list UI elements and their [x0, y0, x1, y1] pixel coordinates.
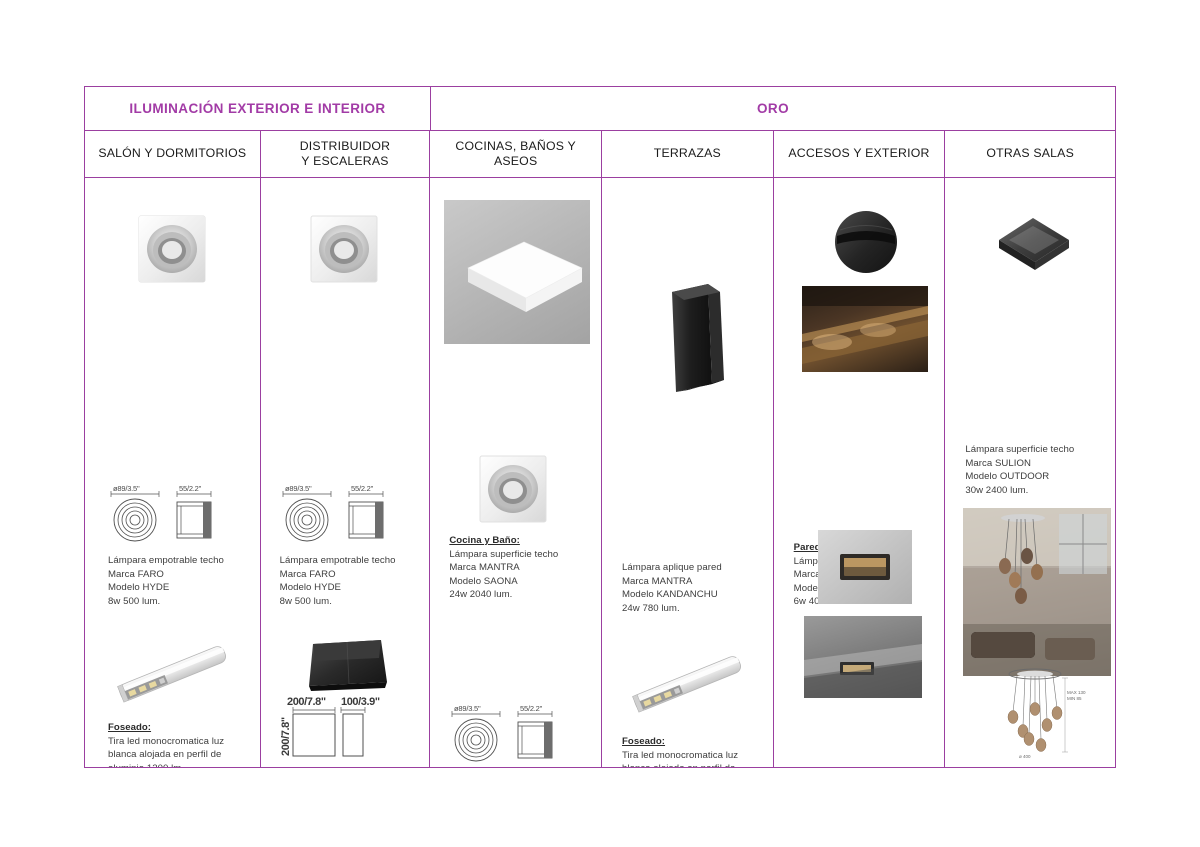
column-body-distribuidor-y-escaleras: ø89/3.5" 55/2.2": [261, 178, 431, 767]
header-label: DISTRIBUIDOR Y ESCALERAS: [300, 139, 391, 170]
entry-line: Marca FARO: [280, 568, 396, 582]
hyde-downlight-photo: [466, 450, 562, 539]
entry-text-foseado: Foseado: Tira led monocromatica luz blan…: [622, 735, 738, 767]
outdoor-surface-lamp-photo: [985, 206, 1081, 283]
entry-text-hyde-downlight: Lámpara empotrable techo Marca FARO Mode…: [280, 554, 396, 608]
page-canvas: ILUMINACIÓN EXTERIOR E INTERIOR ORO SALÓ…: [0, 0, 1200, 847]
hyde-downlight-photo: [297, 210, 393, 299]
entry-line: 24w 780 lum.: [622, 602, 722, 616]
svg-text:100/3.9": 100/3.9": [341, 696, 380, 708]
entry-line: Modelo KANDANCHU: [622, 588, 722, 602]
hyde-downlight-photo: [125, 210, 221, 299]
saona-surface-lamp-photo: [444, 200, 590, 344]
entry-text-outdoor: Lámpara superficie techo Marca SULION Mo…: [965, 443, 1074, 497]
svg-text:ø 400: ø 400: [1019, 754, 1031, 759]
entry-line: blanca alojada en perfil de: [622, 762, 738, 767]
svg-text:MIN 85: MIN 85: [1067, 696, 1082, 701]
column-body-terrazas: Lámpara aplique pared Marca MANTRA Model…: [602, 178, 774, 767]
entry-text-kandanchu: Lámpara aplique pared Marca MANTRA Model…: [622, 561, 722, 615]
header-label: COCINAS, BAÑOS Y ASEOS: [455, 139, 576, 170]
header-label: OTRAS SALAS: [986, 146, 1074, 161]
entry-line: Lámpara superficie techo: [965, 443, 1074, 457]
entry-text-hyde-aseo: Aseo: Lámpara empotrable techo Marca FAR…: [449, 766, 565, 767]
step-installation-photo: [804, 616, 922, 698]
entry-line: blanca alojada en perfil de: [108, 748, 224, 762]
entry-line: aluminio 1200 lm: [108, 762, 224, 767]
table-body-row: ø89/3.5" 55/2.2": [85, 178, 1115, 767]
column-header-cocinas-banos-y-aseos: COCINAS, BAÑOS Y ASEOS: [430, 131, 602, 177]
column-body-accesos-y-exterior: Pared: Lámpara aplique pared Marca MANTR…: [774, 178, 946, 767]
entry-line: Lámpara aplique pared: [622, 561, 722, 575]
header-line: DISTRIBUIDOR: [300, 139, 391, 153]
kandanchu-wall-lamp-photo: [650, 268, 742, 407]
stair-lighting-photo: [802, 286, 928, 372]
entry-line: Lámpara empotrable techo: [280, 554, 396, 568]
entry-lead: Foseado:: [108, 721, 224, 735]
header-line: Y ESCALERAS: [301, 154, 388, 168]
entry-line: Tira led monocromatica luz: [622, 749, 738, 763]
entry-text-cotton: VILLA BRISA Y TERRAL: Lámpara aplique pa…: [280, 766, 394, 767]
hyde-dimension-diagram: ø89/3.5" 55/2.2": [448, 702, 578, 767]
svg-text:55/2.2": 55/2.2": [520, 704, 543, 713]
column-header-row: SALÓN Y DORMITORIOS DISTRIBUIDOR Y ESCAL…: [85, 131, 1115, 178]
arian-7l-technical-drawing: MAX 130 MIN 85 ø 400: [989, 664, 1095, 765]
hyde-dimension-diagram: ø89/3.5" 55/2.2": [279, 482, 409, 551]
header-label: ACCESOS Y EXTERIOR: [788, 146, 929, 161]
entry-line: Modelo HYDE: [108, 581, 224, 595]
column-body-salon-y-dormitorios: ø89/3.5" 55/2.2": [85, 178, 261, 767]
hyde-dimension-diagram: ø89/3.5" 55/2.2": [107, 482, 237, 551]
entry-line: 30w 2400 lum.: [965, 484, 1074, 498]
entry-line: 8w 500 lum.: [280, 595, 396, 609]
entry-line: Tira led monocromatica luz: [108, 735, 224, 749]
column-header-salon-y-dormitorios: SALÓN Y DORMITORIOS: [85, 131, 261, 177]
svg-text:ø89/3.5": ø89/3.5": [285, 484, 312, 493]
banner-cell-right: ORO: [431, 87, 1115, 130]
svg-text:55/2.2": 55/2.2": [179, 484, 202, 493]
entry-line: Lámpara empotrable techo: [108, 554, 224, 568]
sedna-2-step-light-photo: [818, 530, 912, 604]
entry-line: Modelo SAONA: [449, 575, 558, 589]
svg-text:200/7.8": 200/7.8": [280, 717, 292, 756]
column-header-otras-salas: OTRAS SALAS: [945, 131, 1115, 177]
entry-line: Marca SULION: [965, 457, 1074, 471]
entry-line: 8w 500 lum.: [108, 595, 224, 609]
entry-lead: Foseado:: [622, 735, 738, 749]
entry-text-saona: Cocina y Baño: Lámpara superficie techo …: [449, 534, 558, 602]
column-header-distribuidor-y-escaleras: DISTRIBUIDOR Y ESCALERAS: [261, 131, 431, 177]
entry-lead: VILLA BRISA Y TERRAL:: [280, 766, 394, 767]
baker-r-wall-lamp-photo: [826, 204, 906, 285]
led-strip-profile-photo: [109, 638, 241, 713]
banner-title-left: ILUMINACIÓN EXTERIOR E INTERIOR: [129, 101, 385, 116]
entry-line: Modelo OUTDOOR: [965, 470, 1074, 484]
entry-line: Lámpara superficie techo: [449, 548, 558, 562]
entry-line: Marca MANTRA: [622, 575, 722, 589]
svg-text:55/2.2": 55/2.2": [351, 484, 374, 493]
lighting-specification-table: ILUMINACIÓN EXTERIOR E INTERIOR ORO SALÓ…: [84, 86, 1116, 768]
entry-text-hyde-downlight: Lámpara empotrable techo Marca FARO Mode…: [108, 554, 224, 608]
entry-text-foseado: Foseado: Tira led monocromatica luz blan…: [108, 721, 224, 767]
banner-title-right: ORO: [757, 101, 789, 116]
header-line: COCINAS, BAÑOS Y: [455, 139, 576, 153]
column-header-accesos-y-exterior: ACCESOS Y EXTERIOR: [774, 131, 946, 177]
header-label: TERRAZAS: [654, 146, 721, 161]
cotton-dimension-diagram: 200/7.8" 100/3.9" 200/7.8": [279, 694, 419, 765]
svg-text:MAX 130: MAX 130: [1067, 690, 1086, 695]
entry-line: 24w 2040 lum.: [449, 588, 558, 602]
svg-text:200/7.8": 200/7.8": [287, 696, 326, 708]
entry-lead: Aseo:: [449, 766, 565, 767]
header-line: ASEOS: [494, 154, 537, 168]
header-label: SALÓN Y DORMITORIOS: [98, 146, 246, 161]
arian-7l-pendant-interior-photo: [963, 508, 1111, 676]
svg-text:ø89/3.5": ø89/3.5": [113, 484, 140, 493]
banner-row: ILUMINACIÓN EXTERIOR E INTERIOR ORO: [85, 87, 1115, 131]
column-body-cocinas-banos-y-aseos: Cocina y Baño: Lámpara superficie techo …: [430, 178, 602, 767]
entry-line: Modelo HYDE: [280, 581, 396, 595]
svg-text:ø89/3.5": ø89/3.5": [454, 704, 481, 713]
entry-line: Marca FARO: [108, 568, 224, 582]
column-header-terrazas: TERRAZAS: [602, 131, 774, 177]
led-strip-profile-photo: [624, 648, 756, 723]
entry-line: Marca MANTRA: [449, 561, 558, 575]
column-body-otras-salas: Lámpara superficie techo Marca SULION Mo…: [945, 178, 1115, 767]
banner-cell-left: ILUMINACIÓN EXTERIOR E INTERIOR: [85, 87, 431, 130]
